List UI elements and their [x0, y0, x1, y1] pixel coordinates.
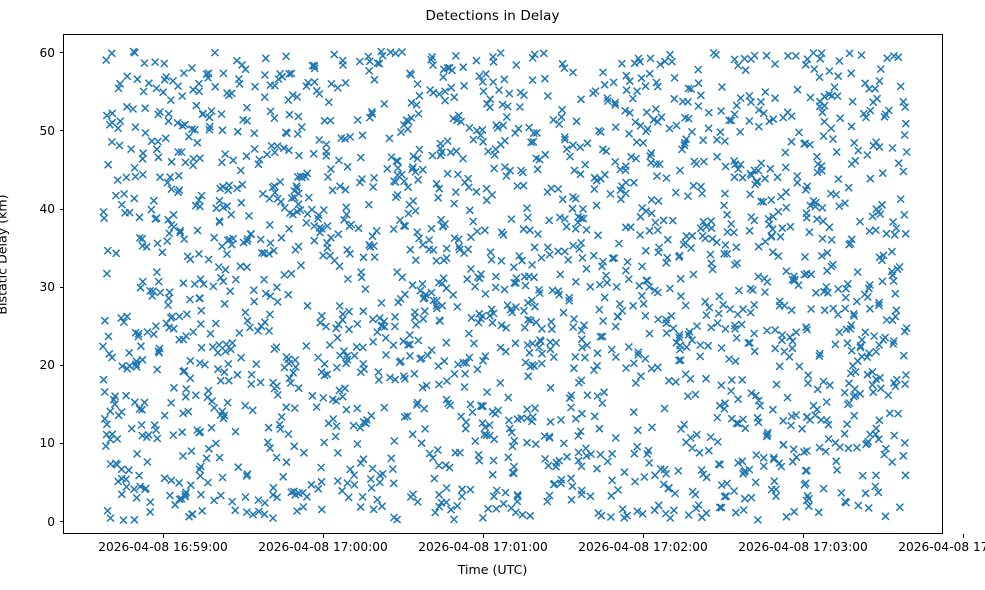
y-tick-label: 60 [13, 46, 55, 60]
matplotlib-figure: Detections in Delay Bistatic Delay (km) … [0, 0, 985, 590]
y-tick-label: 20 [13, 358, 55, 372]
x-tick-mark [163, 534, 164, 538]
y-tick-label: 30 [13, 280, 55, 294]
scatter-marker-group [100, 48, 911, 523]
x-tick-mark [963, 534, 964, 538]
x-tick-label: 2026-04-08 17:04:00 [848, 540, 985, 554]
page-title: Detections in Delay [0, 8, 985, 24]
x-tick-mark [643, 534, 644, 538]
x-axis-label: Time (UTC) [0, 562, 985, 577]
y-tick-label: 50 [13, 124, 55, 138]
y-tick-label: 40 [13, 202, 55, 216]
x-tick-mark [323, 534, 324, 538]
plot-area [63, 34, 943, 534]
y-tick-label: 10 [13, 436, 55, 450]
y-tick-label: 0 [13, 515, 55, 529]
y-axis-label: Bistatic Delay (km) [0, 25, 10, 485]
x-tick-mark [483, 534, 484, 538]
scatter-series [64, 35, 943, 534]
x-tick-mark [803, 534, 804, 538]
